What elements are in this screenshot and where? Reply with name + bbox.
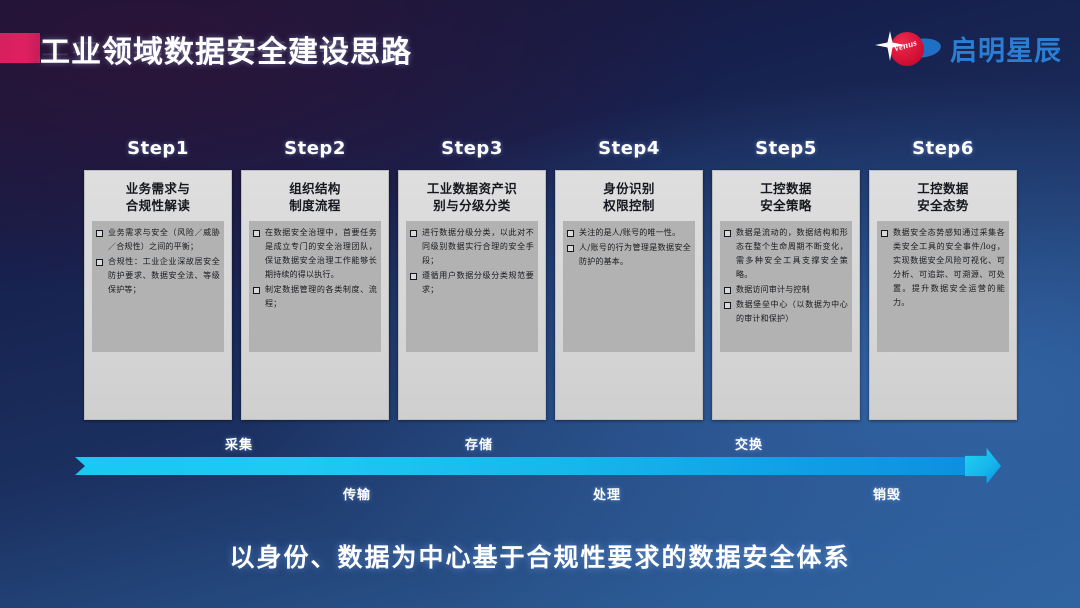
step-card-title-line1: 组织结构: [249, 180, 381, 197]
title-accent-bar: [0, 33, 40, 63]
step-label-6: Step6: [869, 138, 1017, 159]
lifecycle-timeline: 采集存储交换传输处理销毁: [0, 428, 1080, 508]
bullet-item: 关注的是人/账号的唯一性。: [567, 226, 691, 240]
step-card-title-line1: 业务需求与: [92, 180, 224, 197]
step-card-title-line2: 别与分级分类: [406, 197, 538, 214]
timeline-label-交换: 交换: [735, 434, 763, 453]
step-label-1: Step1: [84, 138, 232, 159]
step-card-title-6: 工控数据安全态势: [877, 180, 1009, 214]
bullet-list: 数据安全态势感知通过采集各类安全工具的安全事件/log，实现数据安全风险可视化、…: [881, 226, 1005, 310]
step-label-4: Step4: [555, 138, 703, 159]
slide-header: 工业领域数据安全建设思路 工业领域数据安全建设思路 Venus 启明星辰: [0, 0, 1080, 92]
logo-mark-icon: Venus: [869, 27, 941, 69]
timeline-label-存储: 存储: [465, 434, 493, 453]
step-column-2: Step2组织结构制度流程在数据安全治理中，首要任务是成立专门的安全治理团队，保…: [241, 138, 389, 420]
bullet-list: 在数据安全治理中，首要任务是成立专门的安全治理团队，保证数据安全治理工作能够长期…: [253, 226, 377, 311]
timeline-label-采集: 采集: [225, 434, 253, 453]
bullet-item: 在数据安全治理中，首要任务是成立专门的安全治理团队，保证数据安全治理工作能够长期…: [253, 226, 377, 282]
step-card-title-line2: 制度流程: [249, 197, 381, 214]
bullet-item: 遵循用户数据分级分类规范要求；: [410, 269, 534, 297]
step-card-body-5: 数据是流动的，数据结构和形态在整个生命周期不断变化，需多种安全工具支撑安全策略。…: [720, 221, 852, 352]
step-card-body-6: 数据安全态势感知通过采集各类安全工具的安全事件/log，实现数据安全风险可视化、…: [877, 221, 1009, 352]
bullet-item: 数据堡垒中心（以数据为中心的审计和保护）: [724, 298, 848, 326]
step-card-title-line1: 工控数据: [720, 180, 852, 197]
timeline-label-处理: 处理: [593, 484, 621, 503]
step-label-3: Step3: [398, 138, 546, 159]
step-card-4[interactable]: 身份识别权限控制关注的是人/账号的唯一性。人/账号的行为管理是数据安全防护的基本…: [555, 170, 703, 420]
step-card-body-1: 业务需求与安全（风险／威胁／合规性）之间的平衡；合规性：工业企业深故居安全防护要…: [92, 221, 224, 352]
company-logo: Venus 启明星辰: [869, 26, 1062, 70]
timeline-arrow-head-icon: [965, 448, 1001, 484]
step-card-body-3: 进行数据分级分类，以此对不同级别数据实行合理的安全手段；遵循用户数据分级分类规范…: [406, 221, 538, 352]
step-card-body-4: 关注的是人/账号的唯一性。人/账号的行为管理是数据安全防护的基本。: [563, 221, 695, 352]
bullet-item: 数据是流动的，数据结构和形态在整个生命周期不断变化，需多种安全工具支撑安全策略。: [724, 226, 848, 282]
bullet-item: 业务需求与安全（风险／威胁／合规性）之间的平衡；: [96, 226, 220, 254]
bullet-item: 制定数据管理的各类制度、流程；: [253, 283, 377, 311]
step-label-5: Step5: [712, 138, 860, 159]
step-card-title-3: 工业数据资产识别与分级分类: [406, 180, 538, 214]
bullet-item: 数据安全态势感知通过采集各类安全工具的安全事件/log，实现数据安全风险可视化、…: [881, 226, 1005, 310]
step-card-6[interactable]: 工控数据安全态势数据安全态势感知通过采集各类安全工具的安全事件/log，实现数据…: [869, 170, 1017, 420]
bullet-list: 关注的是人/账号的唯一性。人/账号的行为管理是数据安全防护的基本。: [567, 226, 691, 269]
step-card-body-2: 在数据安全治理中，首要任务是成立专门的安全治理团队，保证数据安全治理工作能够长期…: [249, 221, 381, 352]
step-card-title-line2: 安全策略: [720, 197, 852, 214]
bullet-item: 进行数据分级分类，以此对不同级别数据实行合理的安全手段；: [410, 226, 534, 268]
timeline-label-销毁: 销毁: [873, 484, 901, 503]
bullet-list: 数据是流动的，数据结构和形态在整个生命周期不断变化，需多种安全工具支撑安全策略。…: [724, 226, 848, 326]
step-column-4: Step4身份识别权限控制关注的是人/账号的唯一性。人/账号的行为管理是数据安全…: [555, 138, 703, 420]
footer-caption: 以身份、数据为中心基于合规性要求的数据安全体系: [0, 538, 1080, 574]
bullet-item: 合规性：工业企业深故居安全防护要求、数据安全法、等级保护等；: [96, 255, 220, 297]
bullet-item: 数据访问审计与控制: [724, 283, 848, 297]
logo-brand-text: 启明星辰: [950, 29, 1062, 68]
step-card-title-line2: 权限控制: [563, 197, 695, 214]
step-column-6: Step6工控数据安全态势数据安全态势感知通过采集各类安全工具的安全事件/log…: [869, 138, 1017, 420]
step-card-title-1: 业务需求与合规性解读: [92, 180, 224, 214]
steps-row: Step1业务需求与合规性解读业务需求与安全（风险／威胁／合规性）之间的平衡；合…: [84, 138, 1016, 420]
bullet-list: 进行数据分级分类，以此对不同级别数据实行合理的安全手段；遵循用户数据分级分类规范…: [410, 226, 534, 297]
timeline-label-传输: 传输: [343, 484, 371, 503]
step-column-5: Step5工控数据安全策略数据是流动的，数据结构和形态在整个生命周期不断变化，需…: [712, 138, 860, 420]
slide-canvas: 工业领域数据安全建设思路 工业领域数据安全建设思路 Venus 启明星辰 Ste…: [0, 0, 1080, 608]
step-card-title-line2: 安全态势: [877, 197, 1009, 214]
step-card-title-4: 身份识别权限控制: [563, 180, 695, 214]
step-card-2[interactable]: 组织结构制度流程在数据安全治理中，首要任务是成立专门的安全治理团队，保证数据安全…: [241, 170, 389, 420]
step-card-title-line2: 合规性解读: [92, 197, 224, 214]
step-card-title-line1: 身份识别: [563, 180, 695, 197]
step-card-5[interactable]: 工控数据安全策略数据是流动的，数据结构和形态在整个生命周期不断变化，需多种安全工…: [712, 170, 860, 420]
step-column-3: Step3工业数据资产识别与分级分类进行数据分级分类，以此对不同级别数据实行合理…: [398, 138, 546, 420]
step-card-title-5: 工控数据安全策略: [720, 180, 852, 214]
step-card-title-2: 组织结构制度流程: [249, 180, 381, 214]
step-card-3[interactable]: 工业数据资产识别与分级分类进行数据分级分类，以此对不同级别数据实行合理的安全手段…: [398, 170, 546, 420]
step-label-2: Step2: [241, 138, 389, 159]
step-card-title-line1: 工控数据: [877, 180, 1009, 197]
bullet-item: 人/账号的行为管理是数据安全防护的基本。: [567, 241, 691, 269]
step-card-1[interactable]: 业务需求与合规性解读业务需求与安全（风险／威胁／合规性）之间的平衡；合规性：工业…: [84, 170, 232, 420]
timeline-arrow-bar: [75, 457, 983, 475]
page-title: 工业领域数据安全建设思路: [40, 27, 412, 71]
bullet-list: 业务需求与安全（风险／威胁／合规性）之间的平衡；合规性：工业企业深故居安全防护要…: [96, 226, 220, 297]
step-card-title-line1: 工业数据资产识: [406, 180, 538, 197]
step-column-1: Step1业务需求与合规性解读业务需求与安全（风险／威胁／合规性）之间的平衡；合…: [84, 138, 232, 420]
